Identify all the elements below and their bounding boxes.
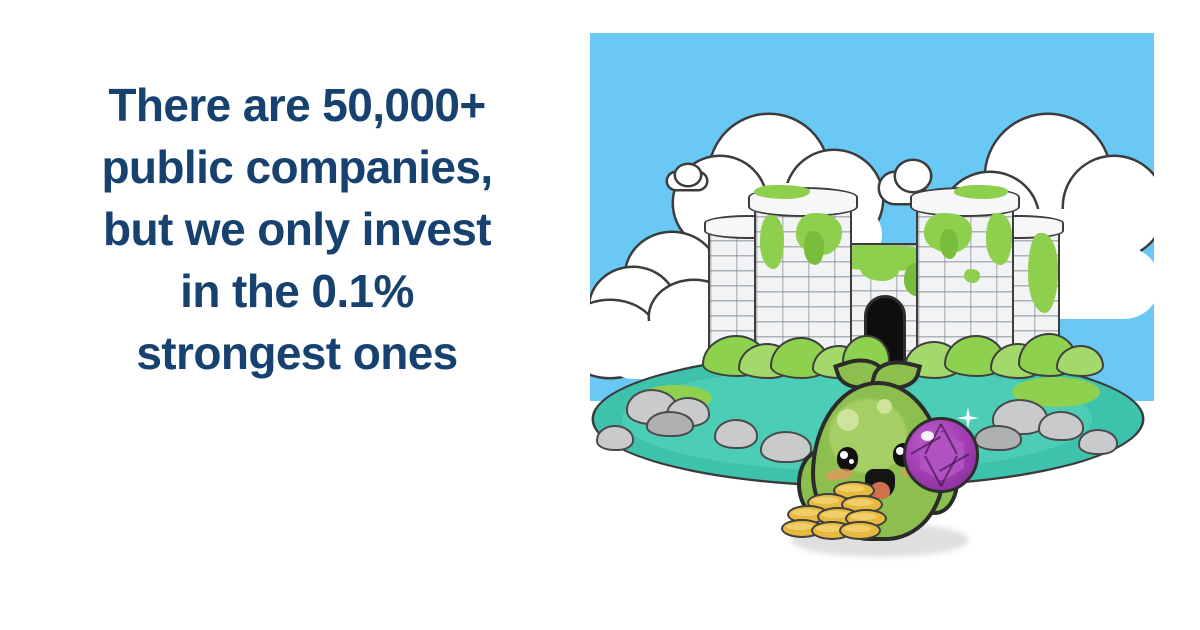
headline-line-2: public companies, bbox=[52, 136, 542, 198]
moss-patch bbox=[860, 255, 900, 281]
green-blob-mascot bbox=[785, 353, 975, 568]
eye-highlight bbox=[840, 451, 848, 459]
moss-patch bbox=[986, 213, 1012, 265]
gem-highlight bbox=[921, 431, 934, 441]
gold-coin-stack bbox=[785, 481, 881, 541]
body-spot bbox=[837, 409, 859, 431]
rock-icon bbox=[1078, 429, 1118, 455]
mascot-eye-left bbox=[837, 447, 858, 471]
purple-gem bbox=[903, 417, 979, 493]
headline-line-5: strongest ones bbox=[52, 322, 542, 384]
moss-patch bbox=[964, 269, 980, 283]
page-root: There are 50,000+ public companies, but … bbox=[0, 0, 1200, 630]
body-spot bbox=[877, 399, 892, 414]
cloud-icon bbox=[676, 165, 700, 185]
moss-patch bbox=[954, 185, 1008, 199]
moss-patch bbox=[1028, 233, 1058, 313]
headline-line-3: but we only invest bbox=[52, 198, 542, 260]
moss-patch bbox=[754, 185, 810, 199]
rock-icon bbox=[646, 411, 694, 437]
rock-icon bbox=[714, 419, 758, 449]
rock-icon bbox=[1038, 411, 1084, 441]
mascot-blush-left bbox=[824, 467, 853, 482]
moss-patch bbox=[804, 231, 824, 265]
coin-icon bbox=[839, 521, 881, 540]
headline-line-4: in the 0.1% bbox=[52, 260, 542, 322]
headline-line-1: There are 50,000+ bbox=[52, 74, 542, 136]
rock-icon bbox=[596, 425, 634, 451]
eye-highlight bbox=[849, 459, 854, 464]
moss-patch bbox=[760, 215, 784, 269]
moss-patch bbox=[940, 229, 958, 259]
rock-icon bbox=[974, 425, 1022, 451]
castle-island-illustration bbox=[590, 33, 1154, 598]
page-title: There are 50,000+ public companies, but … bbox=[52, 74, 542, 384]
